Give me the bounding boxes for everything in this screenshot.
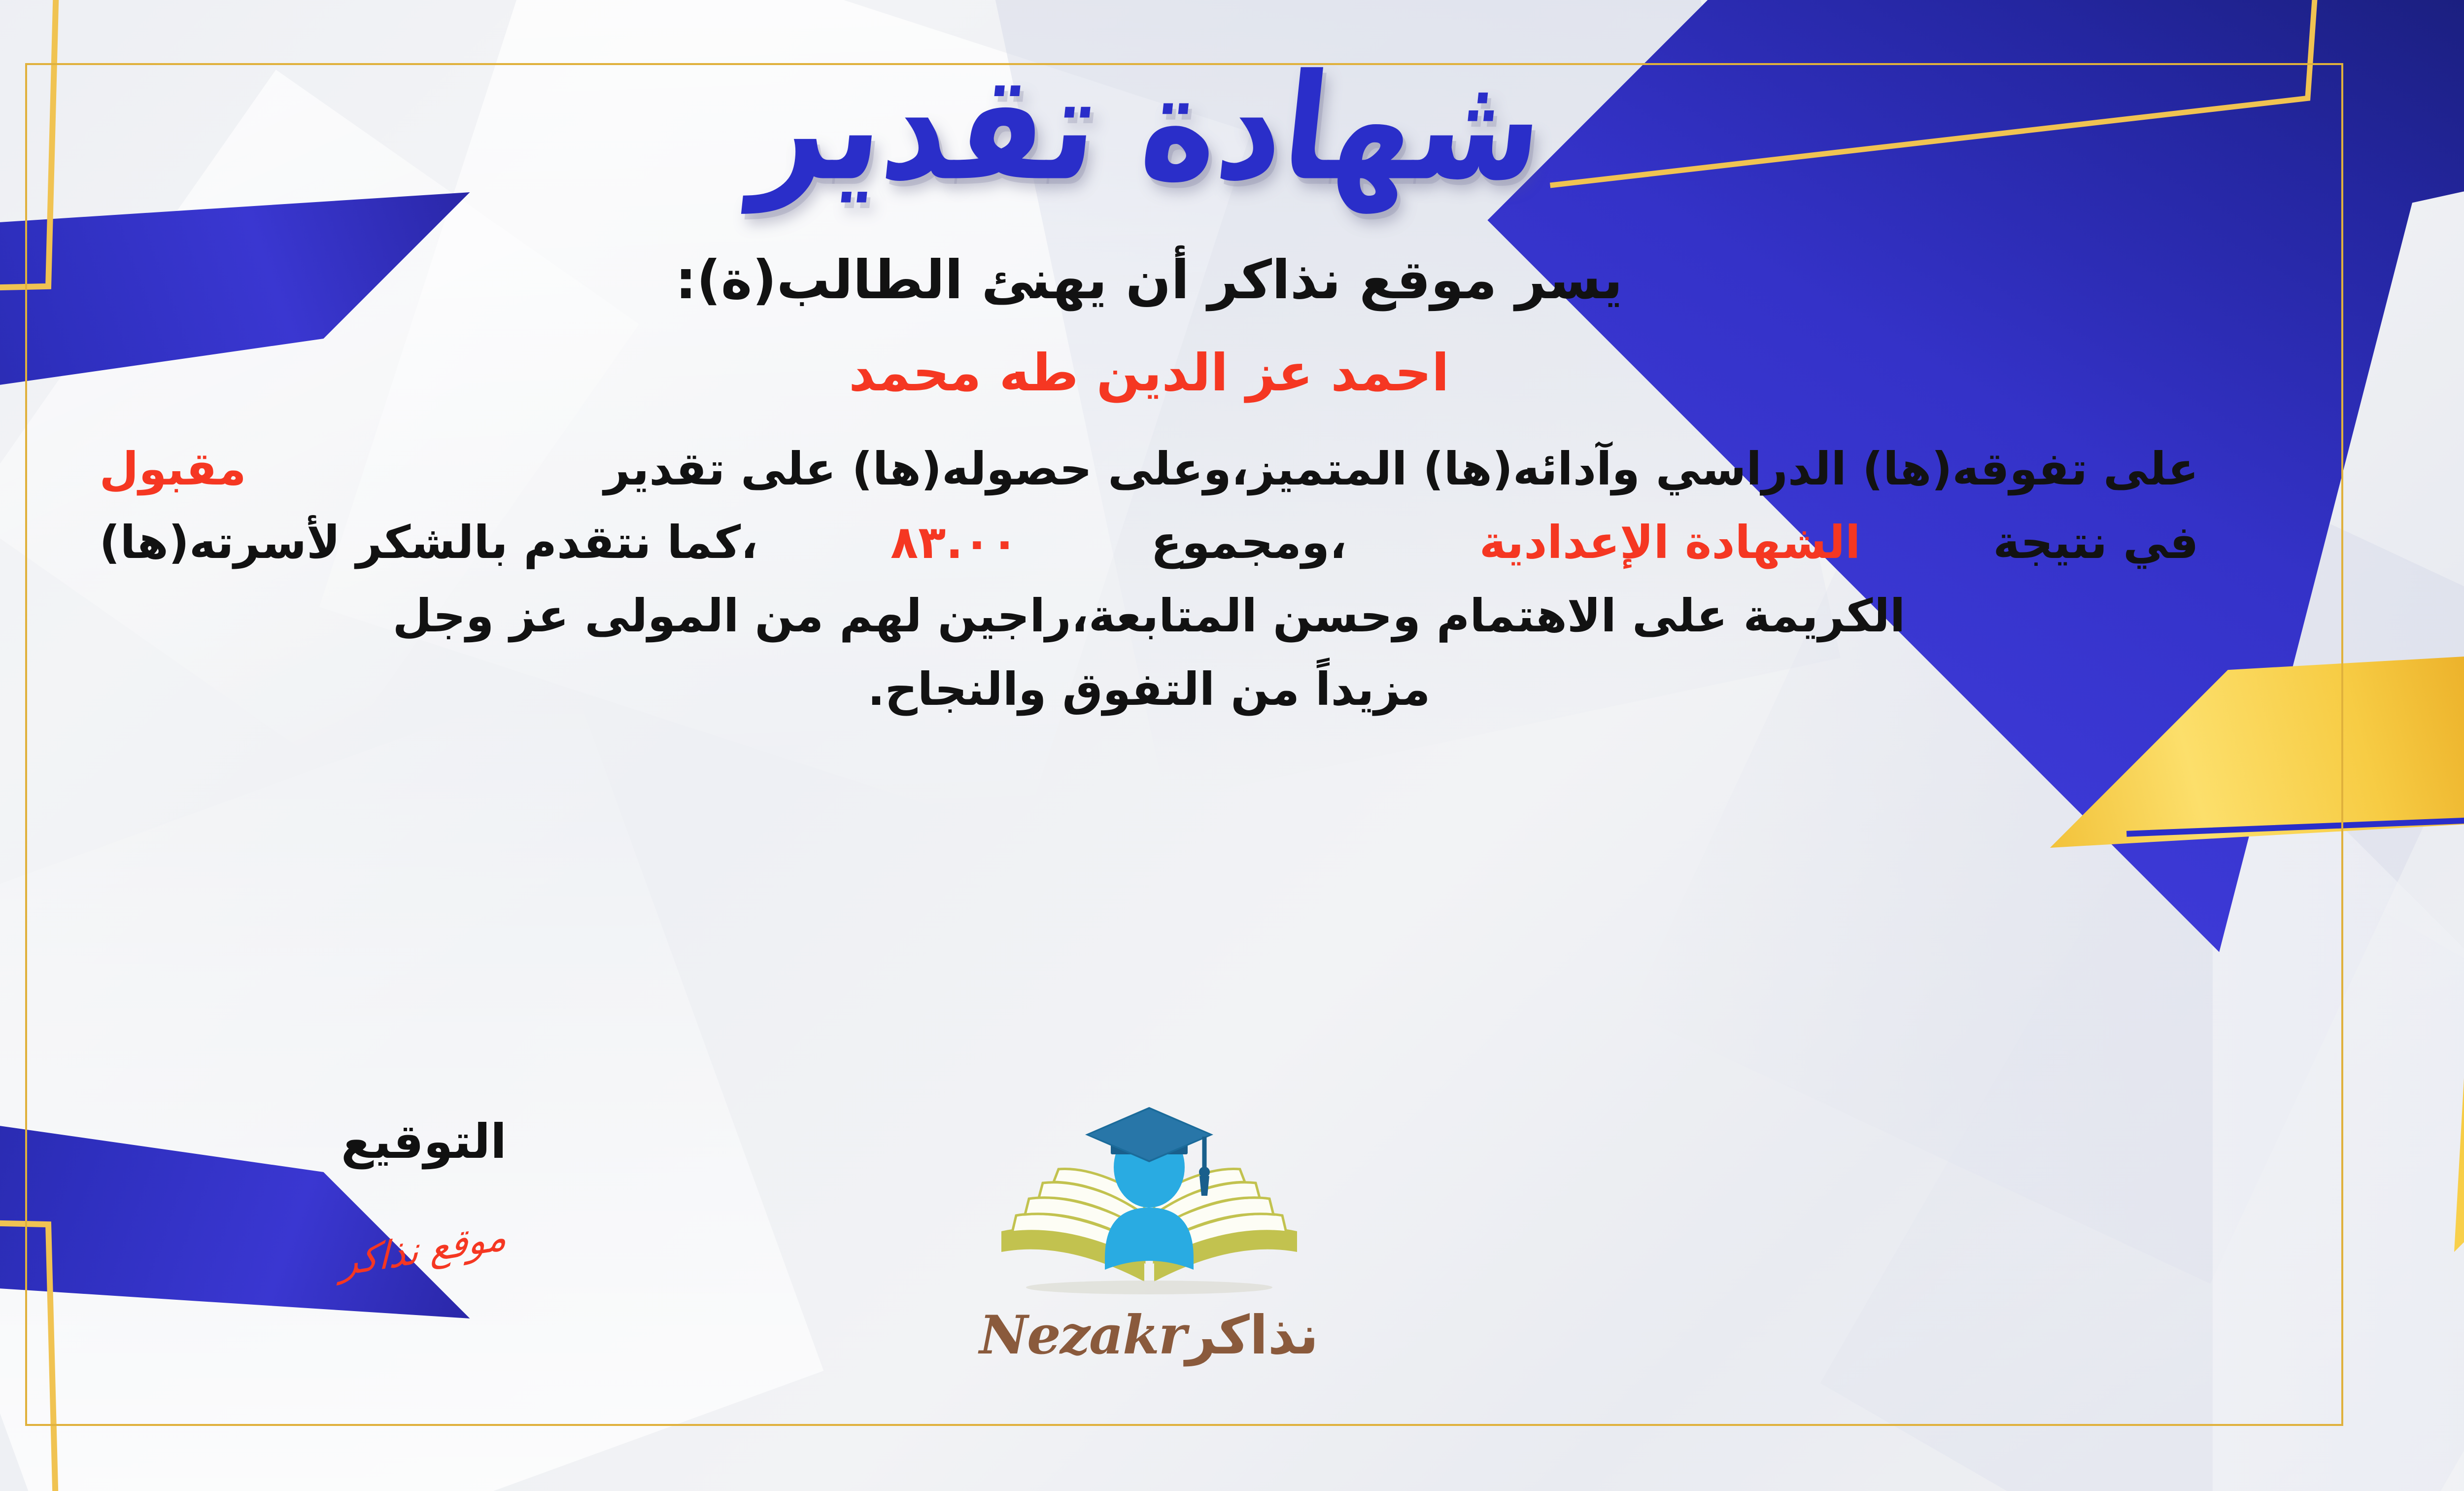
body-line-1: على تفوقه(ها) الدراسي وآدائه(ها) المتميز… xyxy=(100,432,2199,506)
body-line-1-text: على تفوقه(ها) الدراسي وآدائه(ها) المتميز… xyxy=(604,432,2198,506)
body-line-2-total-label: ،ومجموع xyxy=(1151,506,1347,579)
body-line-2-suffix: ،كما نتقدم بالشكر لأسرته(ها) xyxy=(100,506,758,579)
body-line-2-prefix: في نتيجة xyxy=(1993,506,2198,579)
body-line-3: الكريمة على الاهتمام وحسن المتابعة،راجين… xyxy=(100,579,2199,653)
body-line-4: مزيداً من التفوق والنجاح. xyxy=(100,653,2199,726)
grade-value: مقبول xyxy=(100,432,246,506)
total-score-value: ٨٣.٠٠ xyxy=(890,506,1019,579)
exam-name-value: الشهادة الإعدادية xyxy=(1479,506,1861,579)
student-name: احمد عز الدين طه محمد xyxy=(849,343,1449,403)
body-line-2: في نتيجة الشهادة الإعدادية ،ومجموع ٨٣.٠٠… xyxy=(100,506,2199,579)
certificate-title-wrapper: شهادة تقدير xyxy=(0,64,2464,192)
certificate-canvas: شهادة تقدير يسر موقع نذاكر أن يهنئ الطال… xyxy=(0,0,2464,1491)
certificate-content: شهادة تقدير يسر موقع نذاكر أن يهنئ الطال… xyxy=(0,0,2464,1491)
certificate-body-paragraph: على تفوقه(ها) الدراسي وآدائه(ها) المتميز… xyxy=(100,432,2199,726)
greeting-text: يسر موقع نذاكر أن يهنئ الطالب(ة): xyxy=(675,251,1623,310)
page-title: شهادة تقدير xyxy=(748,55,1550,201)
